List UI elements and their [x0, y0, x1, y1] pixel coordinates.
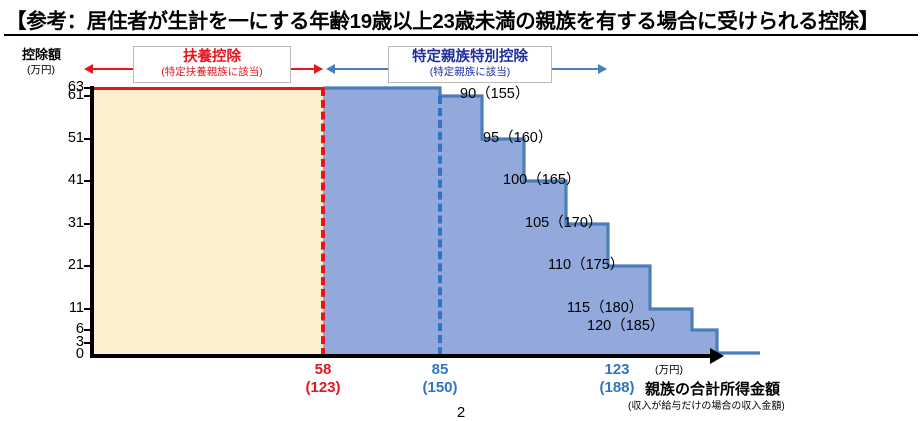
y-tick-mark-21 — [84, 265, 92, 267]
y-tick-label: 0 — [44, 346, 84, 362]
step-note-95: 95（160） — [483, 126, 552, 147]
y-tick-label: 21 — [44, 257, 84, 273]
x-tick-salary: (123) — [283, 379, 363, 396]
y-tick-mark-41 — [84, 180, 92, 182]
y-axis-title: 控除額 — [22, 44, 61, 63]
x-tick-123: 123 (188) — [577, 361, 657, 396]
region-tokutei-step-2 — [440, 96, 482, 354]
x-tick-income: 123 — [604, 361, 629, 378]
y-axis-line — [90, 86, 94, 358]
x-axis-arrowhead — [710, 348, 724, 364]
page-title: 【参考：居住者が生計を一にする年齢19歳以上23歳未満の親族を有する場合に受けら… — [6, 4, 918, 34]
region-tokutei-step-1 — [323, 88, 440, 354]
y-tick-label: 51 — [44, 130, 84, 146]
region-fuyo-kojo — [94, 88, 323, 354]
page-number: 2 — [0, 404, 922, 421]
y-tick-mark-61 — [84, 95, 92, 97]
x-axis-title: 親族の合計所得金額 — [645, 378, 780, 399]
legend-fuyo-subtitle: (特定扶養親族に該当) — [142, 66, 282, 79]
title-divider — [4, 34, 918, 36]
legend-fuyo-title: 扶養控除 — [142, 49, 282, 66]
y-tick-mark-63 — [84, 87, 92, 89]
x-tick-58: 58 (123) — [283, 361, 363, 396]
fuyo-bracket-arrow-right — [314, 64, 323, 74]
legend-fuyo-kojo: 扶養控除 (特定扶養親族に該当) — [133, 46, 291, 83]
x-tick-income: 85 — [432, 361, 449, 378]
threshold-line-58 — [321, 88, 329, 356]
y-tick-label: 61 — [44, 87, 84, 103]
step-note-110: 110（175） — [548, 253, 624, 274]
fuyo-bracket-arrow-left — [84, 64, 93, 74]
x-tick-salary: (150) — [400, 379, 480, 396]
legend-tokutei-title: 特定親族特別控除 — [397, 49, 543, 66]
y-tick-mark-6 — [84, 329, 92, 331]
legend-tokutei-subtitle: (特定親族に該当) — [397, 66, 543, 79]
tokutei-bracket-arrow-left — [326, 64, 335, 74]
y-tick-mark-51 — [84, 138, 92, 140]
x-axis-line — [90, 354, 712, 358]
step-note-100: 100（165） — [503, 168, 580, 189]
y-tick-label: 41 — [44, 172, 84, 188]
y-tick-mark-31 — [84, 223, 92, 225]
y-tick-mark-3 — [84, 342, 92, 344]
x-tick-85: 85 (150) — [400, 361, 480, 396]
step-note-90: 90（155） — [460, 82, 529, 103]
fuyo-top-line — [94, 87, 324, 90]
tokutei-bracket-arrow-right — [598, 64, 607, 74]
y-tick-label: 31 — [44, 215, 84, 231]
step-note-105: 105（170） — [525, 211, 602, 232]
threshold-line-85 — [438, 96, 446, 355]
slide-root: 【参考：居住者が生計を一にする年齢19歳以上23歳未満の親族を有する場合に受けら… — [0, 0, 922, 418]
x-tick-income: 58 — [315, 361, 332, 378]
y-tick-label: 11 — [44, 300, 84, 316]
step-note-120: 120（185） — [587, 314, 664, 335]
legend-tokutei-shinzoku: 特定親族特別控除 (特定親族に該当) — [388, 46, 552, 83]
y-axis-unit: (万円) — [27, 62, 55, 77]
y-tick-mark-11 — [84, 308, 92, 310]
x-tick-salary: (188) — [577, 379, 657, 396]
x-axis-unit: (万円) — [655, 362, 683, 377]
